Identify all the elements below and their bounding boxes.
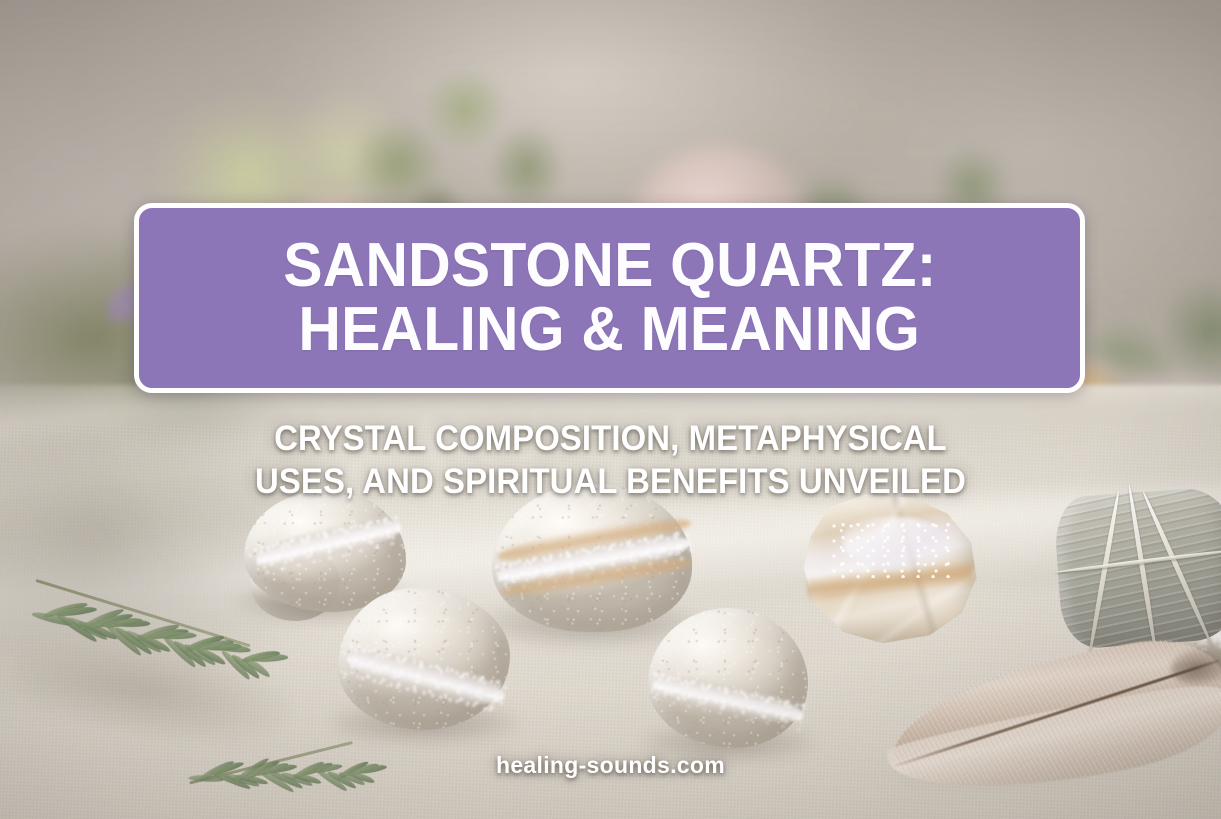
rosemary-sprig — [14, 579, 283, 733]
tumbled-stone-front-center — [648, 608, 808, 748]
rosemary-needle — [114, 620, 151, 628]
title-banner: SANDSTONE QUARTZ: HEALING & MEANING — [134, 203, 1085, 393]
subtitle: CRYSTAL COMPOSITION, METAPHYSICAL USES, … — [0, 418, 1221, 503]
title-line-2: HEALING & MEANING — [299, 298, 921, 362]
subtitle-line-2: USES, AND SPIRITUAL BENEFITS UNVEILED — [37, 461, 1185, 504]
subtitle-line-1: CRYSTAL COMPOSITION, METAPHYSICAL — [37, 418, 1185, 461]
site-url: healing-sounds.com — [0, 752, 1221, 779]
background-photo — [0, 0, 1221, 819]
title-line-1: SANDSTONE QUARTZ: — [283, 234, 936, 298]
banner-canvas: SANDSTONE QUARTZ: HEALING & MEANING CRYS… — [0, 0, 1221, 819]
tumbled-stone-front-left — [338, 588, 510, 730]
crystal-sparkle — [832, 520, 951, 578]
raw-quartz-chunk — [800, 488, 980, 648]
